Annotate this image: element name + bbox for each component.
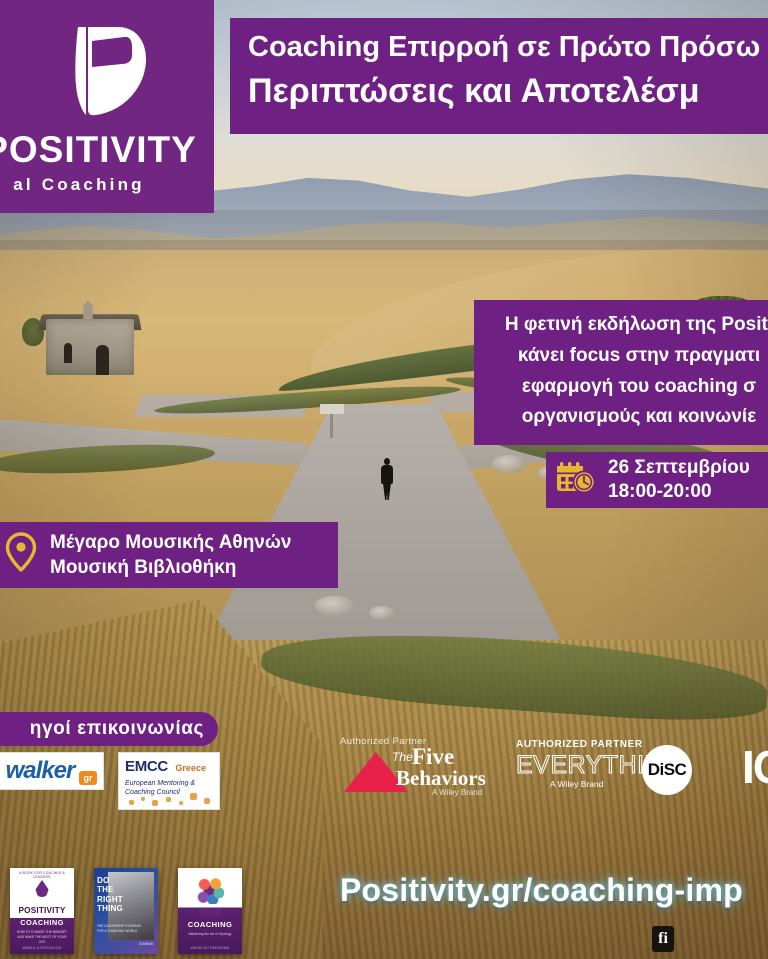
title-line-1: Coaching Επιρροή σε Πρώτο Πρόσω — [248, 28, 768, 67]
five-behaviors-logo[interactable]: Authorized Partner The Five Behaviors A … — [340, 736, 490, 798]
map-pin-icon — [4, 532, 38, 579]
book2-title-1: DO — [97, 876, 109, 885]
book-do-the-right-thing: DO THE RIGHT THING THE LEADERSHIP COMPAS… — [94, 868, 158, 954]
book3-author: VASSILIKI PAPADIMA — [178, 946, 242, 950]
book1-title-1: POSITIVITY — [10, 906, 74, 915]
description-line: εφαρμογή του coaching σ — [488, 372, 768, 403]
book-covers-strip: A BOOK FOR COACHES & LEADERS POSITIVITY … — [10, 868, 242, 954]
five-behaviors-wiley-brand: A Wiley Brand — [432, 788, 482, 797]
media-sponsors-label: ηγοί επικοινωνίας — [0, 712, 218, 746]
description-line: κάνει focus στην πραγματι — [488, 341, 768, 372]
five-behaviors-the: The — [392, 750, 413, 764]
location-text-block: Μέγαρο Μουσικής Αθηνών Μουσική Βιβλιοθήκ… — [50, 530, 292, 580]
calendar-clock-icon — [556, 461, 596, 500]
book3-flower-icon — [196, 876, 224, 904]
emcc-title: EMCC — [125, 758, 168, 775]
walker-logo-text: walker — [6, 757, 75, 785]
media-sponsor-logos: walker gr EMCC Greece European Mentoring… — [0, 752, 220, 810]
walker-gr-badge: gr — [79, 771, 97, 785]
registration-url[interactable]: Positivity.gr/coaching-imp — [340, 872, 743, 909]
fi-ligature-badge: fi — [652, 926, 674, 952]
everything-disc-wiley-brand: A Wiley Brand — [550, 779, 603, 789]
everything-disc-logo[interactable]: AUTHORIZED PARTNER EVERYTHING A Wiley Br… — [516, 737, 716, 797]
book3-title-2: COACHING — [178, 920, 242, 929]
media-sponsors-label-text: ηγοί επικοινωνίας — [30, 718, 204, 740]
venue-name: Μέγαρο Μουσικής Αθηνών — [50, 530, 292, 555]
book3-subtitle: Mastering the Art of Synergy — [182, 932, 238, 937]
ic-logo-text: IC — [742, 744, 768, 790]
event-description-panel: Η φετινή εκδήλωση της Positi κάνει focus… — [474, 300, 768, 445]
emcc-greece-logo[interactable]: EMCC Greece European Mentoring & Coachin… — [118, 752, 220, 810]
emcc-region: Greece — [175, 763, 206, 773]
emcc-dot-decoration — [125, 792, 215, 806]
book1-author: MARIA ILIOPOULOU — [10, 946, 74, 950]
book-positivity-coaching: A BOOK FOR COACHES & LEADERS POSITIVITY … — [10, 868, 74, 954]
book3-title-1: TEAM — [178, 908, 242, 917]
venue-hall: Μουσική Βιβλιοθήκη — [50, 555, 292, 580]
book1-droplet-icon — [36, 880, 49, 897]
book1-top-note: A BOOK FOR COACHES & LEADERS — [10, 871, 74, 879]
book2-title: DO THE RIGHT THING — [97, 876, 123, 914]
book-team-coaching: TEAM COACHING Mastering the Art of Syner… — [178, 868, 242, 954]
book1-title-2: COACHING — [10, 918, 74, 927]
book2-author: IOANNIS — [139, 942, 153, 946]
event-date-panel: 26 Σεπτεμβρίου 18:00-20:00 — [546, 452, 768, 508]
disc-badge: DiSC — [642, 745, 692, 795]
event-date: 26 Σεπτεμβρίου — [608, 456, 750, 480]
brand-logo-panel: POSITIVITY al Coaching — [0, 0, 214, 213]
book2-title-3: RIGHT — [97, 895, 123, 904]
event-time: 18:00-20:00 — [608, 480, 750, 504]
description-line: Η φετινή εκδήλωση της Positi — [488, 310, 768, 341]
title-line-2: Περιπτώσεις και Αποτελέσμ — [248, 69, 768, 113]
walker-gr-logo[interactable]: walker gr — [0, 752, 104, 790]
ic-logo[interactable]: IC — [742, 739, 768, 795]
book2-title-2: THE — [97, 885, 114, 894]
book1-subtitle: HOW TO CHANGE THE MINDSET AND MAKE THE M… — [14, 930, 70, 944]
date-text-block: 26 Σεπτεμβρίου 18:00-20:00 — [608, 456, 750, 505]
book2-title-4: THING — [97, 904, 123, 913]
authorized-partner-logos: Authorized Partner The Five Behaviors A … — [340, 736, 768, 798]
event-title-panel: Coaching Επιρροή σε Πρώτο Πρόσω Περιπτώσ… — [230, 18, 768, 134]
everything-disc-kicker: AUTHORIZED PARTNER — [516, 739, 643, 750]
event-location-panel: Μέγαρο Μουσικής Αθηνών Μουσική Βιβλιοθήκ… — [0, 522, 338, 588]
description-line: οργανισμούς και κοινωνίε — [488, 402, 768, 433]
event-poster: POSITIVITY al Coaching Coaching Επιρροή … — [0, 0, 768, 959]
positivity-p-mark-icon — [52, 19, 156, 123]
brand-wordmark: POSITIVITY — [0, 129, 197, 171]
brand-tagline: al Coaching — [13, 175, 145, 195]
book2-subtitle: THE LEADERSHIP COMPASS FOR A CHANGING WO… — [97, 924, 143, 934]
